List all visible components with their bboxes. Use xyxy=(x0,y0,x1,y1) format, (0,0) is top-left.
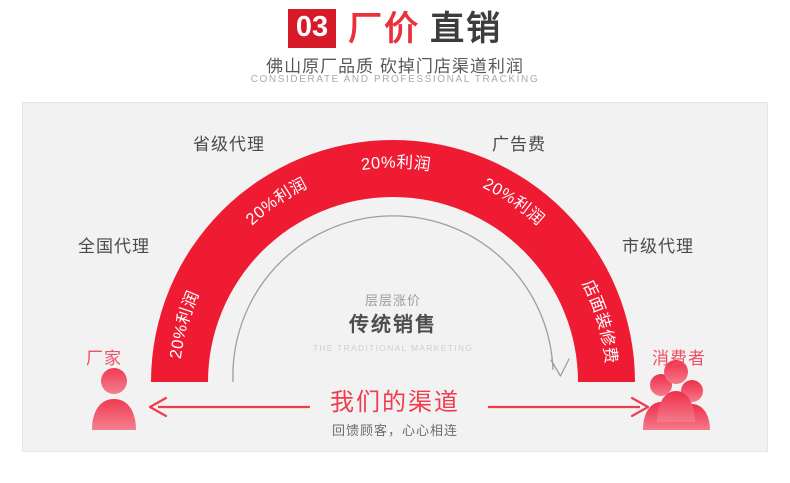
page-title-dark: 直销 xyxy=(430,12,502,46)
center-caption-big: 传统销售 xyxy=(293,310,493,340)
header: 03 厂价 直销 佛山原厂品质 砍掉门店渠道利润 CONSIDERATE AND… xyxy=(0,0,790,98)
center-caption-en: THE TRADITIONAL MARKETING xyxy=(293,343,493,353)
center-caption-small: 层层涨价 xyxy=(293,292,493,310)
stage-label-city-agent: 市级代理 xyxy=(622,232,694,257)
bottom-caption-big: 我们的渠道 xyxy=(295,388,495,418)
subtitle-english: CONSIDERATE AND PROFESSIONAL TRACKING xyxy=(0,74,790,85)
bottom-caption: 我们的渠道 回馈顾客，心心相连 xyxy=(295,388,495,439)
stage-label-advertising-fee: 广告费 xyxy=(492,130,546,155)
center-caption: 层层涨价 传统销售 THE TRADITIONAL MARKETING xyxy=(293,292,493,353)
title-row: 03 厂价 直销 xyxy=(0,9,790,48)
bottom-caption-small: 回馈顾客，心心相连 xyxy=(295,420,495,439)
section-number-badge: 03 xyxy=(288,9,336,48)
consumers-label: 消费者 xyxy=(652,344,706,369)
page-title-red: 厂价 xyxy=(348,12,420,46)
stage-label-national-agent: 全国代理 xyxy=(78,232,150,257)
manufacturer-label: 厂家 xyxy=(86,344,122,369)
stage-label-provincial-agent: 省级代理 xyxy=(193,130,265,155)
